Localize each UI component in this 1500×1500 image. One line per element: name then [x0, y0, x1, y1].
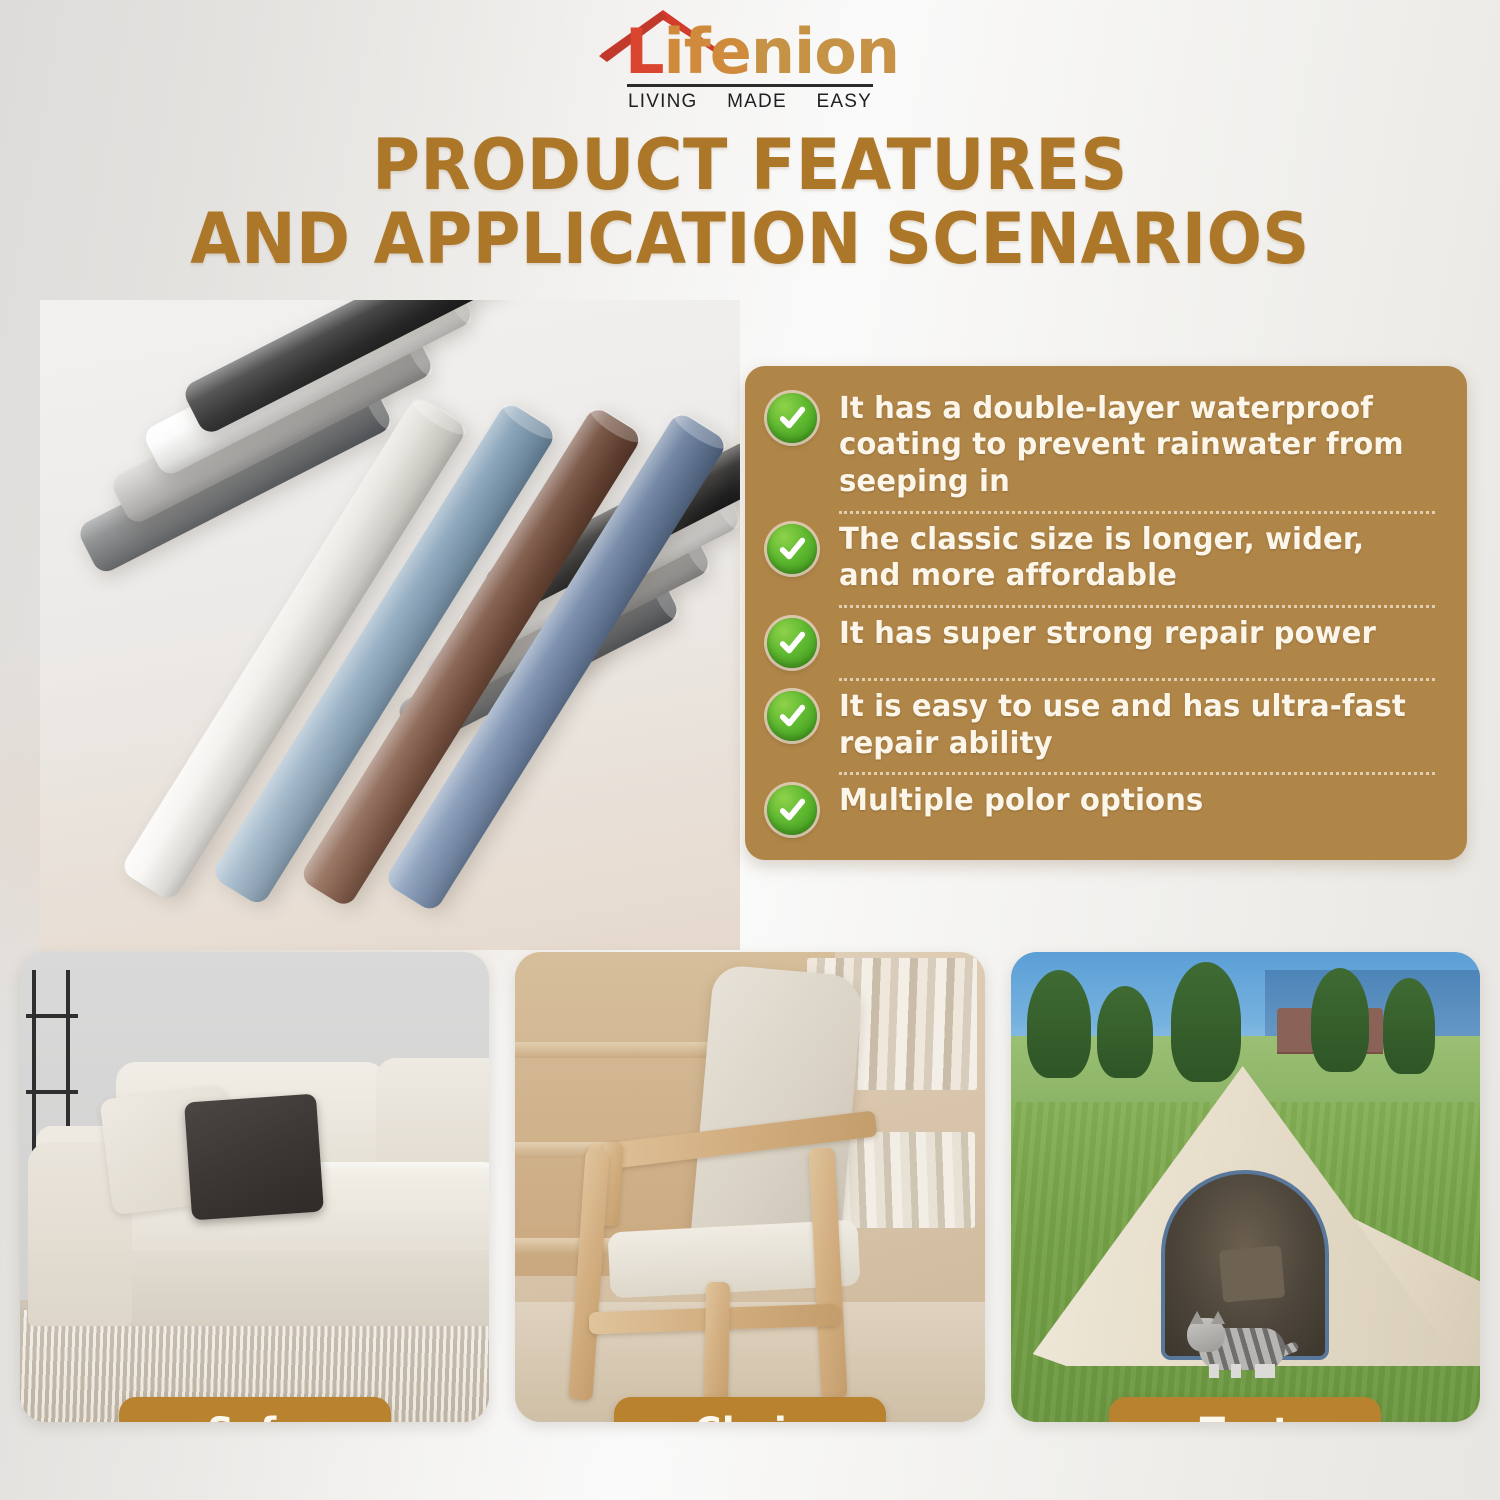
logo-text-nion: nion: [751, 15, 899, 88]
logo-wordmark: Lifenion: [601, 23, 899, 82]
tagline-word-easy: EASY: [816, 91, 872, 113]
logo-tagline: LIVING MADE EASY: [628, 91, 872, 113]
tagline-word-living: LIVING: [628, 91, 698, 113]
brand-logo: Lifenion LIVING MADE EASY: [0, 6, 1500, 116]
page-title-line-2: AND APPLICATION SCENARIOS: [53, 202, 1448, 276]
feature-item: The classic size is longer, wider, and m…: [767, 516, 1439, 601]
scene-label-tent: Tent: [1109, 1397, 1381, 1422]
check-circle-icon: [767, 524, 817, 574]
page-title-line-1: PRODUCT FEATURES: [53, 128, 1448, 202]
scene-card-chair: Chair: [515, 952, 984, 1422]
pine-tree: [1171, 962, 1241, 1082]
scene-label-sofa: Sofa: [119, 1397, 391, 1422]
cat: [1187, 1316, 1291, 1378]
tent-photo: [1011, 952, 1480, 1422]
camp-chair: [1219, 1245, 1285, 1302]
pine-tree: [1097, 986, 1153, 1078]
feature-item: It is easy to use and has ultra-fast rep…: [767, 683, 1439, 768]
scene-label-chair: Chair: [614, 1397, 886, 1422]
feature-text: The classic size is longer, wider, and m…: [839, 522, 1421, 595]
feature-text: It has super strong repair power: [839, 616, 1376, 653]
feature-text: Multiple polor options: [839, 783, 1203, 820]
page-title: PRODUCT FEATURES AND APPLICATION SCENARI…: [0, 128, 1500, 276]
scene-card-sofa: Sofa: [20, 952, 489, 1422]
dark-pillow: [184, 1094, 324, 1221]
feature-item: Multiple polor options: [767, 777, 1439, 841]
feature-text: It is easy to use and has ultra-fast rep…: [839, 689, 1421, 762]
sofa-photo: [20, 952, 489, 1422]
product-rolls-photo: [40, 300, 740, 950]
check-circle-icon: [767, 393, 817, 443]
pine-tree: [1383, 978, 1435, 1074]
check-circle-icon: [767, 785, 817, 835]
application-scenarios: Sofa: [20, 952, 1480, 1422]
logo-text-ife: ife: [664, 15, 751, 88]
pine-tree: [1027, 970, 1091, 1078]
infographic-page: Lifenion LIVING MADE EASY PRODUCT FEATUR…: [0, 0, 1500, 1500]
logo-text-l: L: [625, 15, 664, 88]
chair-leg: [704, 1282, 730, 1412]
chair-photo: [515, 952, 984, 1422]
check-circle-icon: [767, 618, 817, 668]
feature-item: It has a double-layer waterproof coating…: [767, 385, 1439, 507]
pine-tree: [1311, 968, 1369, 1072]
feature-text: It has a double-layer waterproof coating…: [839, 391, 1421, 501]
feature-item: It has super strong repair power: [767, 610, 1439, 674]
scene-card-tent: Tent: [1011, 952, 1480, 1422]
logo-mark: Lifenion: [601, 6, 899, 82]
features-panel: It has a double-layer waterproof coating…: [745, 366, 1467, 860]
check-circle-icon: [767, 691, 817, 741]
tagline-word-made: MADE: [727, 91, 787, 113]
